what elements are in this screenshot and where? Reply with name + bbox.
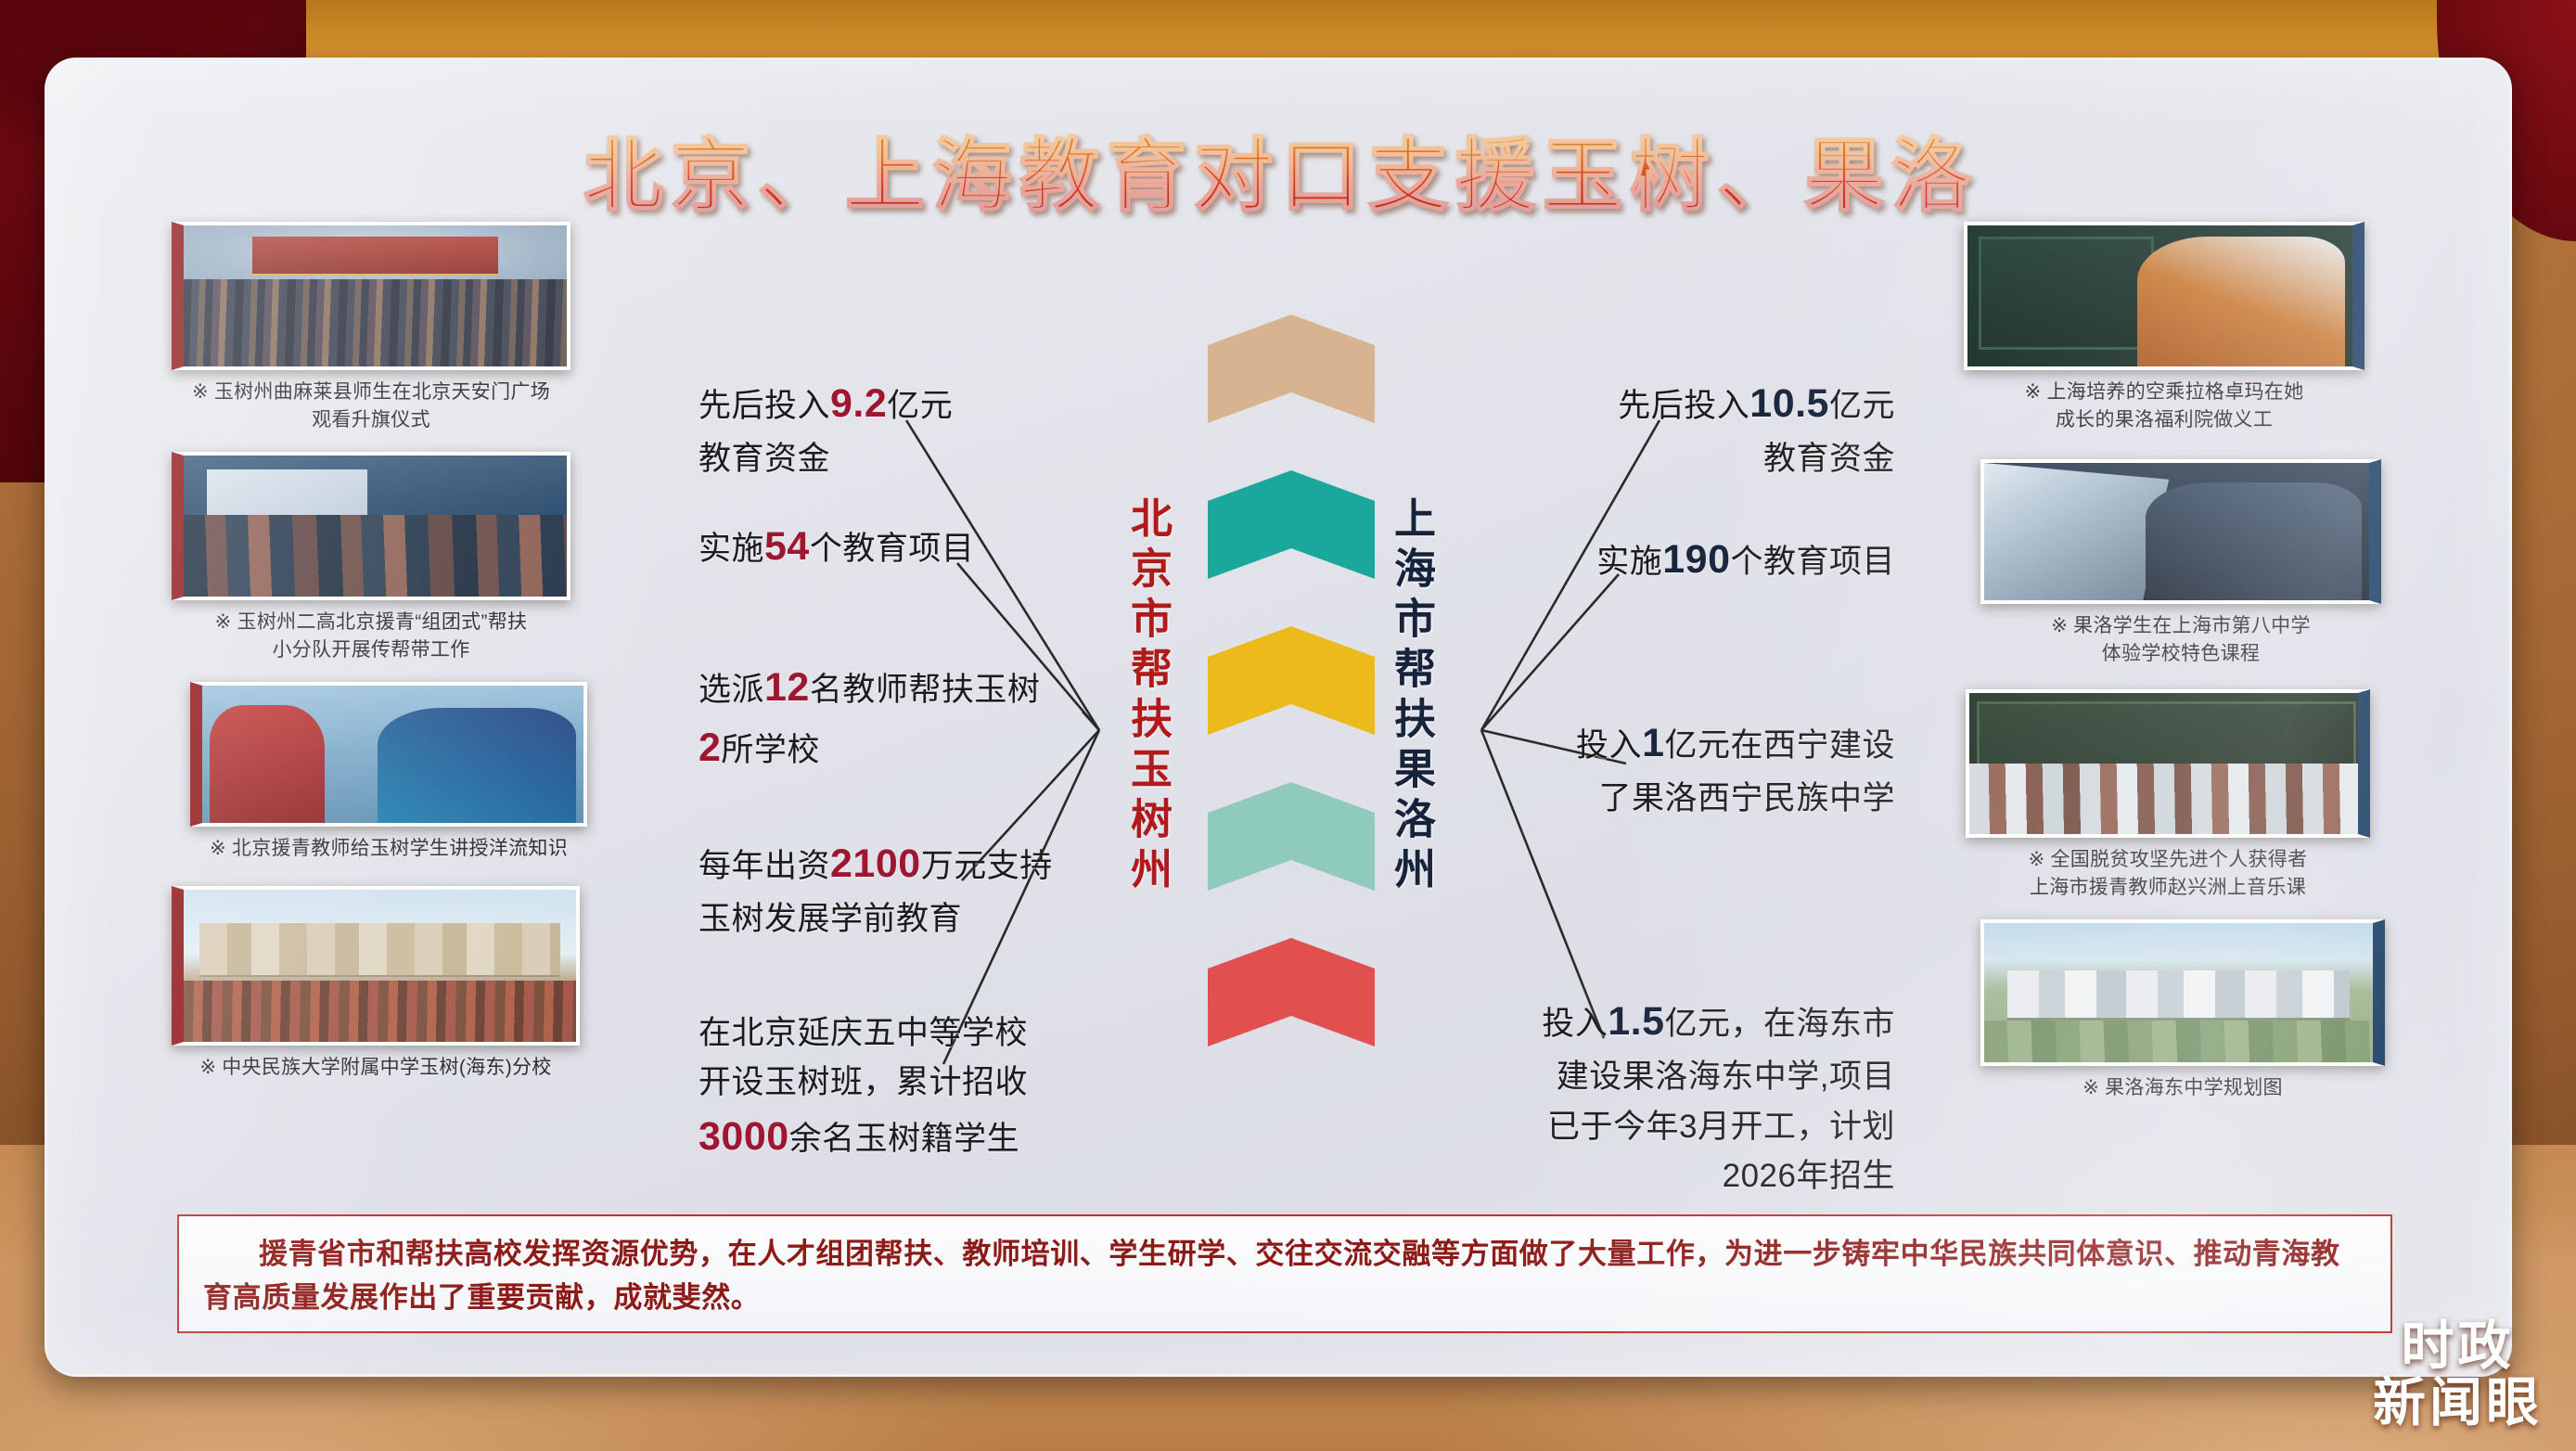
photo-frame: [1966, 689, 2370, 838]
photo-flight-attendant-volunteer: [1967, 225, 2352, 366]
stat-text: 余名玉树籍学生: [789, 1121, 1020, 1157]
caption-line-1: 玉树州二高北京援青“组团式”帮扶: [237, 611, 528, 633]
photo-card-eighth-middle-school[interactable]: ※果洛学生在上海市第八中学 体验学校特色课程: [1980, 459, 2381, 668]
photo-caption: ※中央民族大学附属中学玉树(海东)分校: [172, 1054, 580, 1082]
stat-text: 已于今年3月开工，计划: [1496, 1102, 1895, 1151]
photo-card-tiananmen[interactable]: ※玉树州曲麻莱县师生在北京天安门广场 观看升旗仪式: [172, 222, 570, 434]
chevron-teal: [1208, 470, 1375, 610]
infographic-board: 北京、上海教育对口支援玉树、果洛: [45, 58, 2512, 1377]
stat-text: 投入: [1576, 727, 1642, 764]
stat-shanghai-funding: 先后投入10.5亿元 教育资金: [1496, 374, 1895, 484]
photo-tiananmen-flag-ceremony: [184, 225, 567, 366]
caption-mark-icon: ※: [2083, 1077, 2099, 1098]
stat-number: 1.5: [1608, 999, 1664, 1044]
caption-line-2: 观看升旗仪式: [172, 406, 570, 434]
photo-frame: [1980, 919, 2385, 1066]
stat-text: 每年出资: [698, 848, 830, 884]
stat-beijing-projects: 实施54个教育项目: [698, 517, 1088, 577]
photo-frame: [172, 452, 570, 600]
photo-music-class-zhao-xingzhou: [1969, 693, 2358, 834]
stat-text: 投入: [1542, 1006, 1608, 1042]
caption-mark-icon: ※: [215, 611, 232, 633]
photo-minzu-affiliated-school: [184, 890, 576, 1042]
screenshot-stage: 为最好发展时期贡献最大援青力量 北京、上海教育对口支援玉树、果洛: [0, 0, 2576, 1451]
caption-mark-icon: ※: [210, 838, 226, 859]
stat-text: 在北京延庆五中等学校: [698, 1008, 1088, 1058]
chevron-mint: [1208, 782, 1375, 921]
stat-text: 教育资金: [698, 434, 1088, 483]
summary-text: 援青省市和帮扶高校发挥资源优势，在人才组团帮扶、教师培训、学生研学、交往交流交融…: [203, 1233, 2366, 1319]
stat-text: 2026年招生: [1496, 1151, 1895, 1201]
photo-frame: [172, 886, 580, 1046]
stat-number: 12: [764, 665, 810, 710]
stat-text: 个教育项目: [810, 531, 975, 567]
caption-line-2: 成长的果洛福利院做义工: [1964, 406, 2365, 434]
photo-card-classroom[interactable]: ※玉树州二高北京援青“组团式”帮扶 小分队开展传帮带工作: [172, 452, 570, 664]
center-label-beijing: 北京市帮扶玉树州: [1127, 496, 1169, 897]
stat-text: 亿元，在海东市: [1664, 1006, 1895, 1042]
photo-card-ocean-lesson[interactable]: ※北京援青教师给玉树学生讲授洋流知识: [190, 682, 587, 863]
caption-line-1: 果洛学生在上海市第八中学: [2073, 615, 2311, 636]
chevron-red: [1208, 938, 1375, 1077]
stat-text: 名教师帮扶玉树: [810, 672, 1041, 708]
stat-number: 54: [764, 524, 810, 569]
photo-card-music-class[interactable]: ※全国脱贫攻坚先进个人获得者 上海市援青教师赵兴洲上音乐课: [1966, 689, 2370, 902]
stat-text: 亿元在西宁建设: [1664, 727, 1895, 764]
stat-text: 个教育项目: [1730, 544, 1895, 580]
stat-text: 建设果洛海东中学,项目: [1496, 1052, 1895, 1101]
stat-text: 亿元: [1829, 388, 1895, 424]
stat-number: 9.2: [830, 381, 887, 426]
channel-watermark: 时政 新闻眼: [2373, 1321, 2543, 1429]
caption-line-1: 北京援青教师给玉树学生讲授洋流知识: [232, 838, 568, 859]
stat-text: 实施: [698, 531, 764, 567]
caption-mark-icon: ※: [199, 1057, 216, 1078]
photo-ocean-current-lesson: [202, 686, 583, 823]
stat-text: 玉树发展学前教育: [698, 894, 1088, 944]
photo-caption: ※玉树州曲麻莱县师生在北京天安门广场 观看升旗仪式: [172, 379, 570, 434]
photo-card-volunteer[interactable]: ※上海培养的空乘拉格卓玛在她 成长的果洛福利院做义工: [1964, 222, 2365, 434]
stat-number: 190: [1662, 537, 1730, 582]
caption-mark-icon: ※: [192, 381, 209, 403]
stat-number: 3000: [698, 1114, 789, 1159]
caption-line-1: 全国脱贫攻坚先进个人获得者: [2051, 849, 2308, 870]
photo-caption: ※北京援青教师给玉树学生讲授洋流知识: [190, 835, 587, 863]
photo-haidong-school-render: [1984, 923, 2373, 1062]
chevron-stack: [1208, 315, 1375, 1177]
stat-text: 了果洛西宁民族中学: [1496, 774, 1895, 823]
stat-shanghai-haidong-school: 投入1.5亿元，在海东市 建设果洛海东中学,项目 已于今年3月开工，计划 202…: [1496, 992, 1895, 1201]
stat-beijing-preschool: 每年出资2100万元支持 玉树发展学前教育: [698, 834, 1088, 944]
stat-text: 开设玉树班，累计招收: [698, 1058, 1088, 1107]
chevron-gold: [1208, 626, 1375, 765]
photo-card-minzu-school[interactable]: ※中央民族大学附属中学玉树(海东)分校: [172, 886, 580, 1082]
caption-mark-icon: ※: [2051, 615, 2068, 636]
photo-caption: ※玉树州二高北京援青“组团式”帮扶 小分队开展传帮带工作: [172, 609, 570, 664]
caption-line-1: 玉树州曲麻莱县师生在北京天安门广场: [214, 381, 550, 403]
photo-caption: ※全国脱贫攻坚先进个人获得者 上海市援青教师赵兴洲上音乐课: [1966, 846, 2370, 902]
stat-text: 先后投入: [698, 388, 830, 424]
photo-frame: [1964, 222, 2365, 370]
watermark-line-2: 新闻眼: [2373, 1378, 2543, 1429]
caption-mark-icon: ※: [2025, 381, 2042, 403]
photo-caption: ※果洛海东中学规划图: [1980, 1074, 2385, 1102]
watermark-line-1: 时政: [2373, 1321, 2543, 1372]
stat-text: 教育资金: [1496, 434, 1895, 483]
stat-number: 1: [1642, 721, 1664, 765]
stat-shanghai-xining-school: 投入1亿元在西宁建设 了果洛西宁民族中学: [1496, 713, 1895, 824]
summary-box: 援青省市和帮扶高校发挥资源优势，在人才组团帮扶、教师培训、学生研学、交往交流交融…: [177, 1214, 2392, 1333]
stat-number: 2100: [830, 841, 921, 886]
caption-line-1: 中央民族大学附属中学玉树(海东)分校: [222, 1057, 551, 1078]
photo-group-teaching-support: [184, 456, 567, 597]
chevron-tan: [1208, 315, 1375, 454]
caption-mark-icon: ※: [2029, 849, 2045, 870]
photo-caption: ※上海培养的空乘拉格卓玛在她 成长的果洛福利院做义工: [1964, 379, 2365, 434]
stat-text: 万元支持: [921, 848, 1053, 884]
stat-text: 选派: [698, 672, 764, 708]
stat-number: 10.5: [1749, 381, 1829, 426]
stat-number: 2: [698, 725, 721, 770]
photo-frame: [172, 222, 570, 370]
caption-line-2: 体验学校特色课程: [1980, 640, 2381, 668]
board-content: 北京、上海教育对口支援玉树、果洛: [71, 81, 2491, 1357]
stat-text: 先后投入: [1618, 388, 1749, 424]
stat-text: 所学校: [721, 732, 820, 768]
stat-beijing-teachers: 选派12名教师帮扶玉树 2所学校: [698, 658, 1088, 779]
stat-shanghai-projects: 实施190个教育项目: [1496, 530, 1895, 590]
stat-text: 实施: [1596, 544, 1662, 580]
caption-line-1: 果洛海东中学规划图: [2105, 1077, 2283, 1098]
photo-caption: ※果洛学生在上海市第八中学 体验学校特色课程: [1980, 612, 2381, 668]
stat-beijing-yushu-class: 在北京延庆五中等学校 开设玉树班，累计招收 3000余名玉树籍学生: [698, 1008, 1088, 1168]
connector-right-2: [1481, 574, 1619, 730]
photo-guoluo-students-course: [1984, 463, 2369, 600]
center-label-shanghai: 上海市帮扶果洛州: [1391, 496, 1432, 897]
stat-beijing-funding: 先后投入9.2亿元 教育资金: [698, 374, 1088, 484]
caption-line-1: 上海培养的空乘拉格卓玛在她: [2047, 381, 2304, 403]
caption-line-2: 小分队开展传帮带工作: [172, 636, 570, 664]
photo-frame: [190, 682, 587, 827]
photo-card-haidong-plan[interactable]: ※果洛海东中学规划图: [1980, 919, 2385, 1102]
stat-text: 亿元: [887, 388, 953, 424]
photo-frame: [1980, 459, 2381, 604]
caption-line-2: 上海市援青教师赵兴洲上音乐课: [1966, 874, 2370, 902]
